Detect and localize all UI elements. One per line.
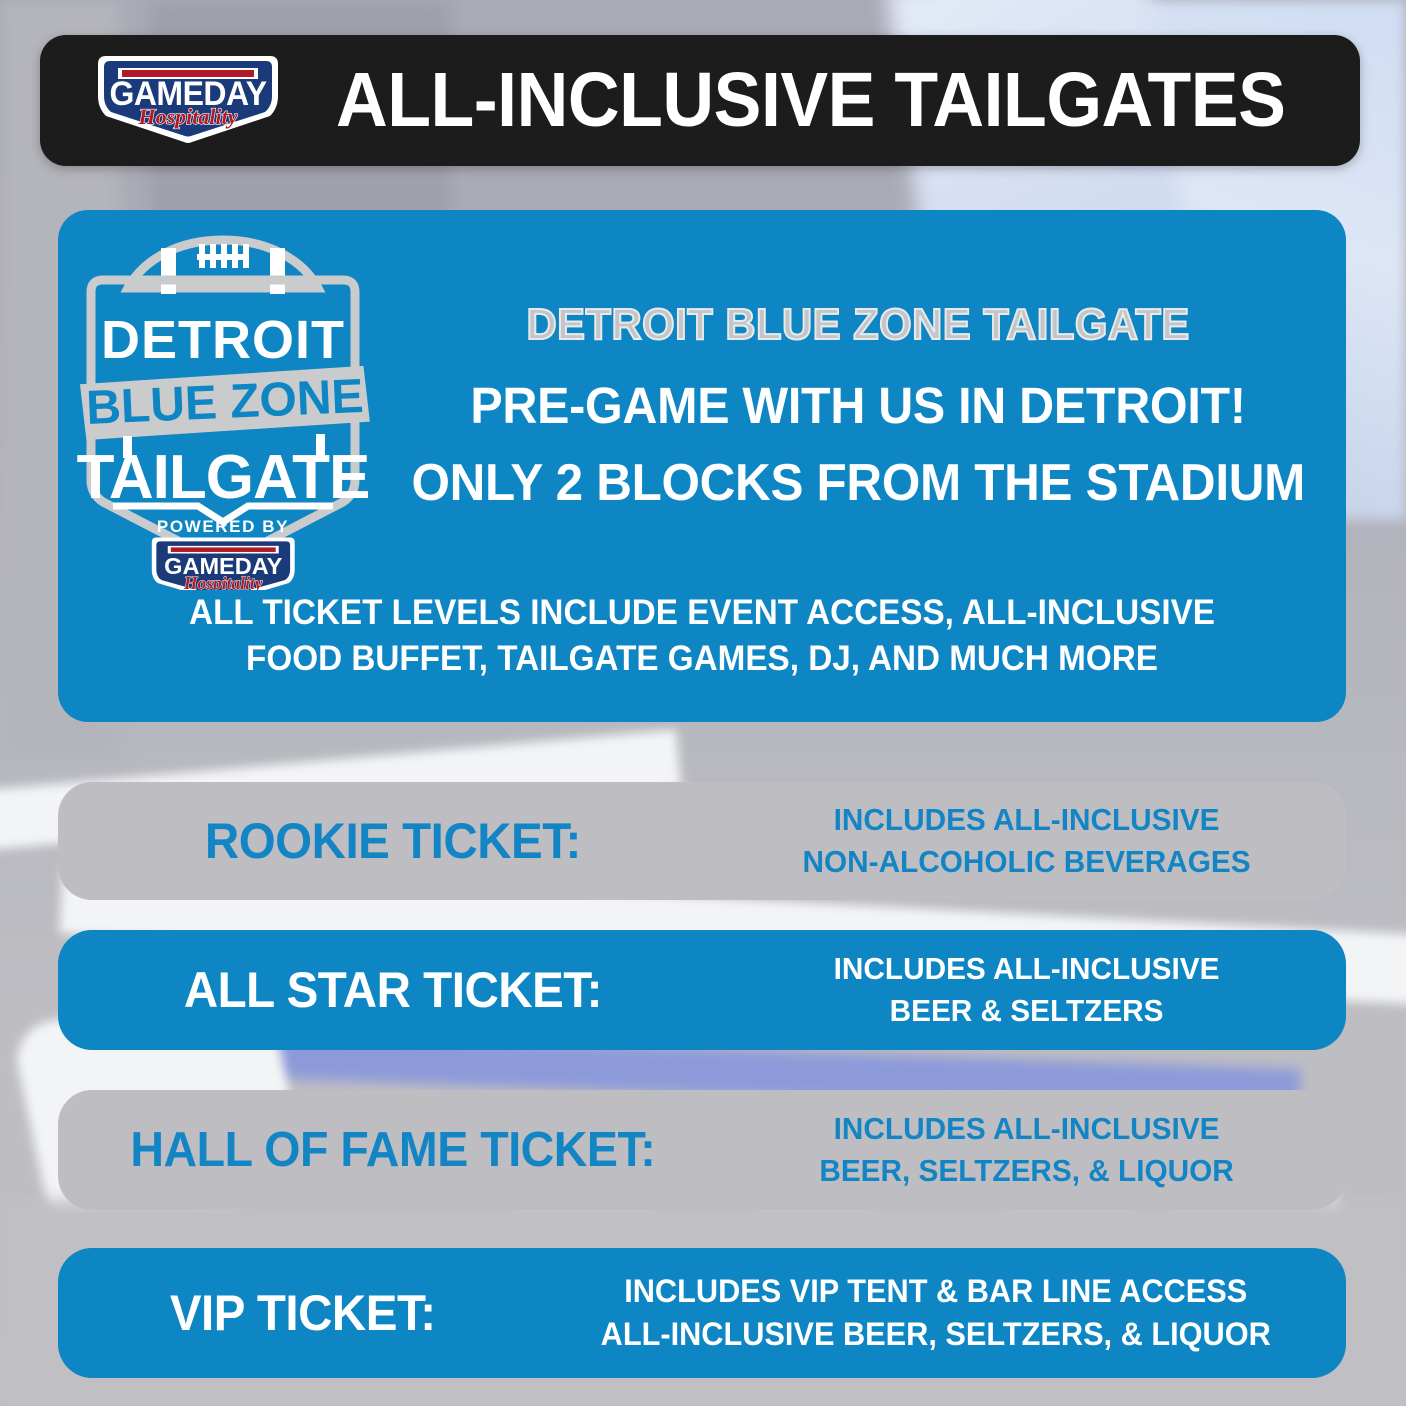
svg-text:Hospitality: Hospitality (138, 104, 238, 129)
svg-text:POWERED BY: POWERED BY (157, 517, 289, 536)
svg-text:Hospitality: Hospitality (183, 573, 263, 590)
tier-row-vip[interactable]: VIP TICKET: INCLUDES VIP TENT & BAR LINE… (58, 1248, 1346, 1378)
hero-headings: DETROIT BLUE ZONE TAILGATE PRE-GAME WITH… (388, 303, 1355, 511)
hero-inclusions-note: ALL TICKET LEVELS INCLUDE EVENT ACCESS, … (90, 590, 1314, 682)
tier-name-vip: VIP TICKET: (70, 1288, 535, 1338)
tier-description-hall-of-fame: INCLUDES ALL-INCLUSIVE BEER, SELTZERS, &… (740, 1108, 1334, 1192)
svg-text:TAILGATE: TAILGATE (77, 443, 370, 512)
tier-description-vip: INCLUDES VIP TENT & BAR LINE ACCESS ALL-… (563, 1270, 1330, 1356)
page-title: ALL-INCLUSIVE TAILGATES (336, 62, 1285, 139)
tier-desc-line-2: NON-ALCOHOLIC BEVERAGES (740, 841, 1312, 883)
tier-name-all-star: ALL STAR TICKET: (75, 965, 711, 1015)
header-bar: GAMEDAY Hospitality ALL-INCLUSIVE TAILGA… (40, 35, 1360, 166)
tier-desc-line-2: ALL-INCLUSIVE BEER, SELTZERS, & LIQUOR (563, 1313, 1308, 1356)
tier-description-all-star: INCLUDES ALL-INCLUSIVE BEER & SELTZERS (740, 948, 1334, 1032)
gameday-hospitality-logo-icon: GAMEDAY Hospitality (88, 50, 288, 151)
tier-desc-line-1: INCLUDES VIP TENT & BAR LINE ACCESS (563, 1270, 1308, 1313)
hero-panel: DETROIT BLUE ZONE TAILGATE POWERED BY (58, 210, 1346, 722)
svg-text:BLUE ZONE: BLUE ZONE (85, 370, 364, 435)
tier-desc-line-1: INCLUDES ALL-INCLUSIVE (740, 1108, 1312, 1150)
hero-headline-secondary: ONLY 2 BLOCKS FROM THE STADIUM (412, 456, 1306, 511)
hero-subtitle: DETROIT BLUE ZONE TAILGATE (527, 303, 1190, 347)
svg-text:DETROIT: DETROIT (101, 310, 345, 370)
tier-row-hall-of-fame[interactable]: HALL OF FAME TICKET: INCLUDES ALL-INCLUS… (58, 1090, 1346, 1210)
poster-root: GAMEDAY Hospitality ALL-INCLUSIVE TAILGA… (0, 0, 1406, 1406)
tier-desc-line-1: INCLUDES ALL-INCLUSIVE (740, 948, 1312, 990)
tier-row-all-star[interactable]: ALL STAR TICKET: INCLUDES ALL-INCLUSIVE … (58, 930, 1346, 1050)
tier-name-rookie: ROOKIE TICKET: (75, 816, 711, 866)
hero-inclusions-line-1: ALL TICKET LEVELS INCLUDE EVENT ACCESS, … (147, 590, 1257, 636)
tier-desc-line-1: INCLUDES ALL-INCLUSIVE (740, 799, 1312, 841)
tier-name-hall-of-fame: HALL OF FAME TICKET: (75, 1126, 711, 1175)
tier-description-rookie: INCLUDES ALL-INCLUSIVE NON-ALCOHOLIC BEV… (740, 799, 1334, 883)
tier-row-rookie[interactable]: ROOKIE TICKET: INCLUDES ALL-INCLUSIVE NO… (58, 782, 1346, 900)
hero-headline-primary: PRE-GAME WITH US IN DETROIT! (471, 379, 1246, 433)
hero-inclusions-line-2: FOOD BUFFET, TAILGATE GAMES, DJ, AND MUC… (147, 636, 1257, 682)
tier-desc-line-2: BEER, SELTZERS, & LIQUOR (740, 1150, 1312, 1192)
detroit-blue-zone-tailgate-logo-icon: DETROIT BLUE ZONE TAILGATE POWERED BY (58, 224, 388, 590)
tier-desc-line-2: BEER & SELTZERS (740, 990, 1312, 1032)
